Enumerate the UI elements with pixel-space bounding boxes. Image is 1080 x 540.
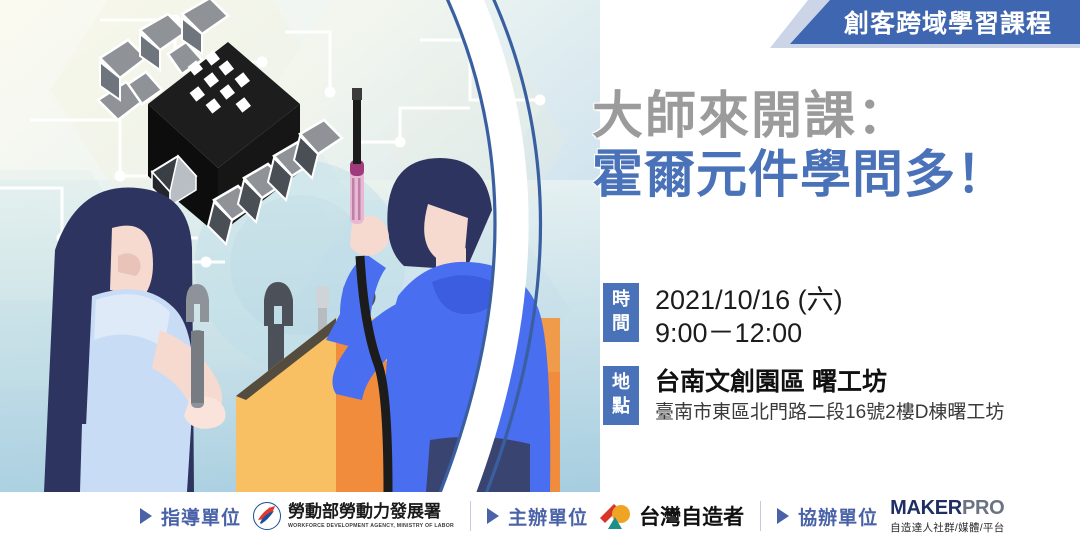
venue-address: 臺南市東區北門路二段16號2樓D棟曙工坊 <box>655 400 1004 426</box>
triangle-right-icon <box>487 508 499 524</box>
makerpro-wordmark: MAKERPRO <box>890 498 1004 518</box>
time-tag-char-1: 時 <box>603 288 639 312</box>
illustration-panel <box>0 0 600 492</box>
mol-emblem-icon <box>253 502 281 530</box>
venue-name: 台南文創園區 曙工坊 <box>655 367 1004 397</box>
place-tag-char-1: 地 <box>603 371 639 395</box>
taiwan-maker-logo: 台灣自造者 <box>599 501 744 531</box>
organizer-label: 主辦單位 <box>508 503 588 530</box>
guiding-unit-label: 指導單位 <box>161 503 241 530</box>
makerpro-word-pro: PRO <box>962 497 1004 519</box>
mol-name-en: WORKFORCE DEVELOPMENT AGENCY, MINISTRY O… <box>288 523 454 529</box>
makerpro-logo: MAKERPRO 自造達人社群/媒體/平台 <box>890 498 1004 535</box>
time-tag-char-2: 間 <box>603 312 639 336</box>
event-date: 2021/10/16 (六) <box>655 284 843 317</box>
ribbon-label: 創客跨域學習課程 <box>818 4 1052 40</box>
time-tag: 時 間 <box>603 283 639 342</box>
time-row: 時 間 2021/10/16 (六) 9:00－12:00 <box>603 283 1073 350</box>
organizer-group: 主辦單位 台灣自造者 <box>487 499 744 533</box>
mol-logo: 勞動部勞動力發展署 WORKFORCE DEVELOPMENT AGENCY, … <box>253 502 454 530</box>
title-line-2: 霍爾元件學問多！ <box>592 145 1072 205</box>
place-tag-char-2: 點 <box>603 395 639 419</box>
place-row: 地 點 台南文創園區 曙工坊 臺南市東區北門路二段16號2樓D棟曙工坊 <box>603 366 1073 426</box>
triangle-right-icon <box>140 508 152 524</box>
course-ribbon: 創客跨域學習課程 <box>790 0 1080 44</box>
place-tag: 地 點 <box>603 366 639 425</box>
sponsor-footer: 指導單位 勞動部勞動力發展署 WORKFORCE DEVELOPMENT AGE… <box>0 492 1080 540</box>
event-hours: 9:00－12:00 <box>655 317 843 350</box>
coorganizer-group: 協辦單位 MAKERPRO 自造達人社群/媒體/平台 <box>777 499 1004 533</box>
mol-name-cn: 勞動部勞動力發展署 <box>288 503 454 521</box>
place-body: 台南文創園區 曙工坊 臺南市東區北門路二段16號2樓D棟曙工坊 <box>655 366 1004 426</box>
makerpro-word-maker: MAKER <box>890 497 962 519</box>
page-title: 大師來開課： 霍爾元件學問多！ <box>592 88 1072 205</box>
event-poster: 創客跨域學習課程 大師來開課： 霍爾元件學問多！ 時 間 2021/10/16 … <box>0 0 1080 540</box>
guiding-unit-group: 指導單位 勞動部勞動力發展署 WORKFORCE DEVELOPMENT AGE… <box>140 499 454 533</box>
footer-divider-1 <box>470 501 471 531</box>
footer-divider-2 <box>760 501 761 531</box>
event-details: 時 間 2021/10/16 (六) 9:00－12:00 地 點 台南文創園區… <box>603 283 1073 442</box>
illustration-artwork <box>0 0 600 492</box>
coorganizer-label: 協辦單位 <box>798 503 878 530</box>
triangle-right-icon <box>777 508 789 524</box>
taiwan-maker-name: 台灣自造者 <box>639 501 744 531</box>
makerpro-tagline: 自造達人社群/媒體/平台 <box>890 520 1004 535</box>
time-body: 2021/10/16 (六) 9:00－12:00 <box>655 283 843 350</box>
title-line-1: 大師來開課： <box>592 88 1072 143</box>
taiwan-maker-mark-icon <box>599 502 633 530</box>
